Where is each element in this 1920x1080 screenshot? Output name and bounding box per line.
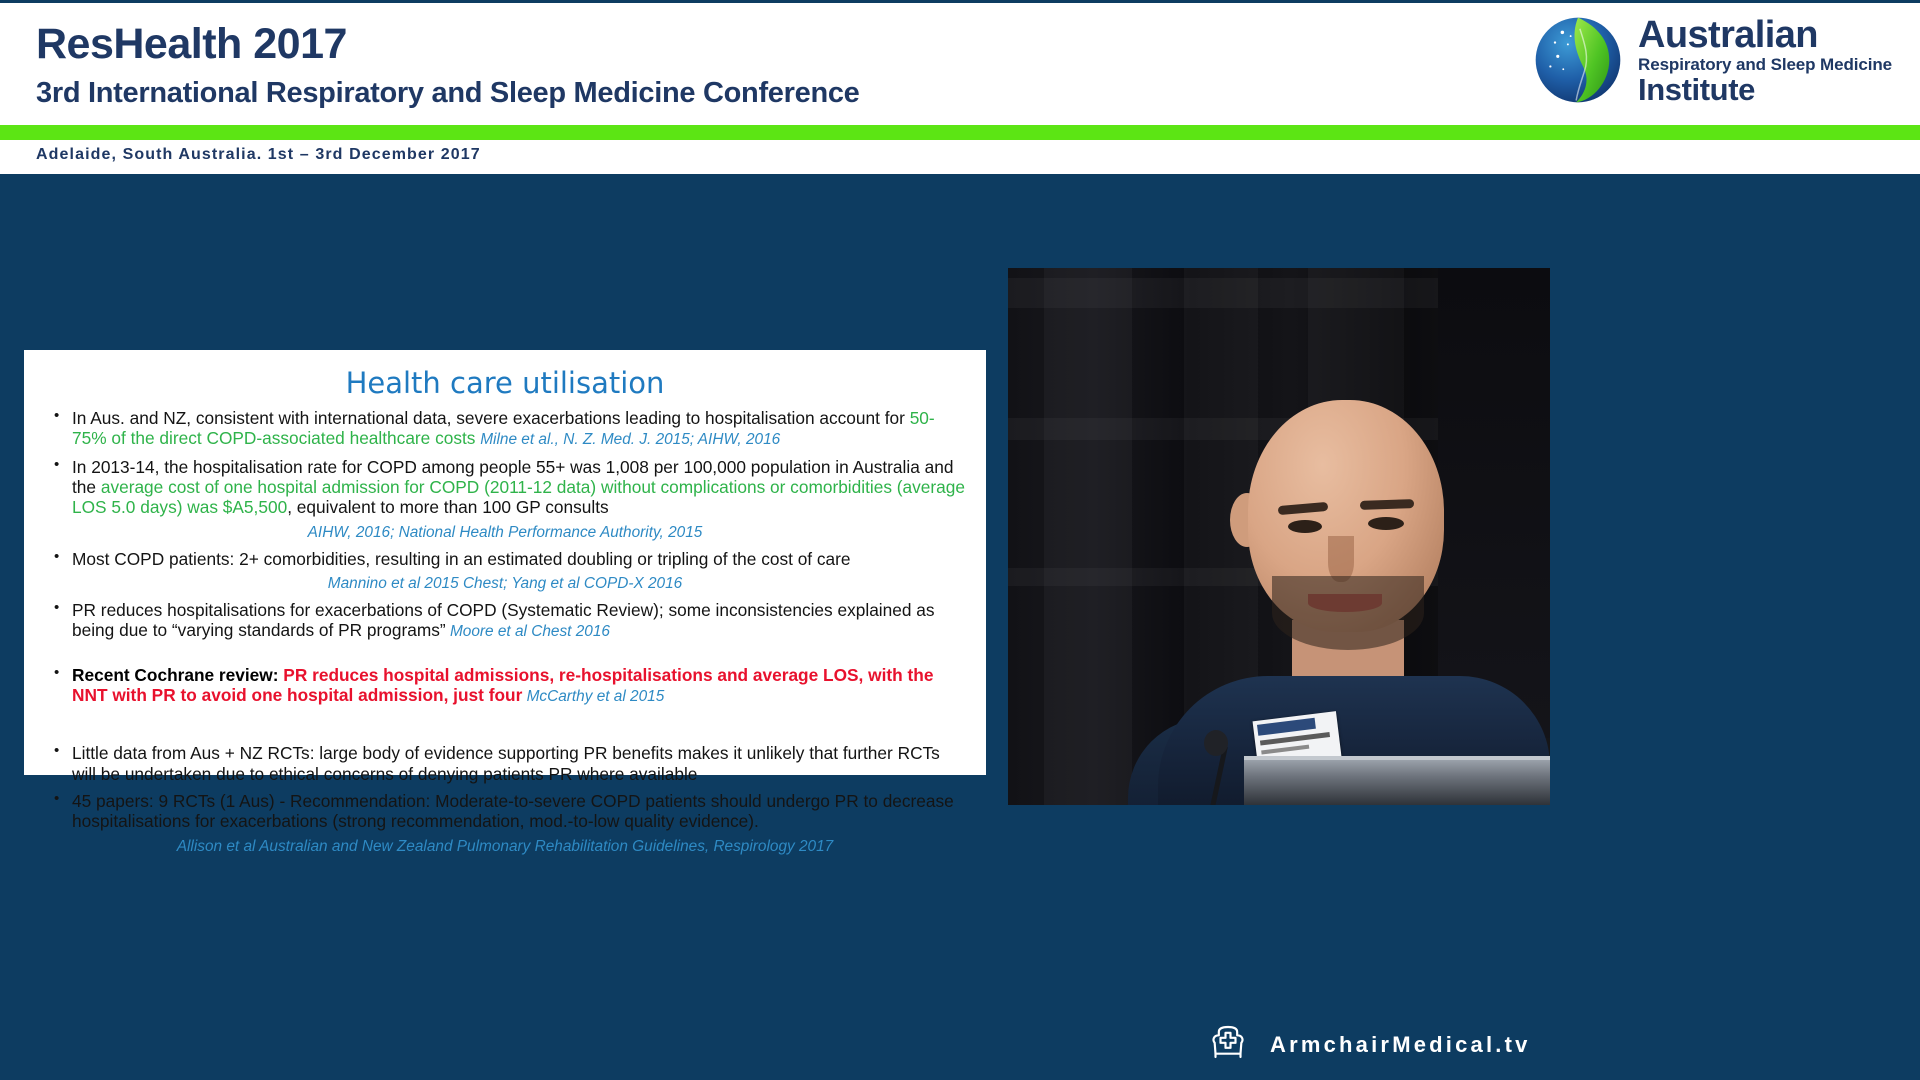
bullet-2-seg-normal-b: , equivalent to more than 100 GP consult… — [287, 497, 609, 517]
video-backdrop-shadow — [1438, 268, 1550, 738]
arsmi-circle-leaf-icon — [1532, 14, 1624, 106]
badge-role-line — [1261, 745, 1309, 755]
arsmi-logo-line2: Respiratory and Sleep Medicine — [1638, 56, 1892, 73]
arsmi-logo: Australian Respiratory and Sleep Medicin… — [1532, 14, 1892, 106]
slide-title: Health care utilisation — [42, 366, 968, 400]
slide-spacer-2 — [42, 713, 968, 743]
bullet-3-seg-normal: Most COPD patients: 2+ comorbidities, re… — [72, 549, 851, 569]
conference-subtitle: 3rd International Respiratory and Sleep … — [36, 78, 860, 108]
slide-bullet-1: In Aus. and NZ, consistent with internat… — [42, 408, 968, 450]
armchair-medical-brand: ArmchairMedical.tv — [1208, 1022, 1531, 1067]
speaker-eyebrow-right — [1360, 499, 1414, 510]
conference-header: ResHealth 2017 3rd International Respira… — [0, 0, 1920, 125]
speaker-beard — [1272, 576, 1424, 650]
slide-bullet-5: Recent Cochrane review: PR reduces hospi… — [42, 665, 968, 707]
arsmi-logo-line3: Institute — [1638, 74, 1892, 105]
bullet-4-citation: Moore et al Chest 2016 — [446, 623, 610, 640]
microphone-head — [1204, 730, 1228, 756]
speaker-eye-right — [1368, 517, 1404, 530]
armchair-medical-wordmark: ArmchairMedical.tv — [1270, 1032, 1531, 1058]
slide-spacer-1 — [42, 649, 968, 665]
header-top-rule — [0, 0, 1920, 3]
badge-header-bar — [1257, 718, 1316, 736]
slide-bullet-2: In 2013-14, the hospitalisation rate for… — [42, 457, 968, 518]
slide-bullet-4: PR reduces hospitalisations for exacerba… — [42, 600, 968, 642]
arsmi-logo-text: Australian Respiratory and Sleep Medicin… — [1638, 16, 1892, 105]
bullet-1-seg-normal: In Aus. and NZ, consistent with internat… — [72, 408, 910, 428]
bullet-7-citation: Allison et al Australian and New Zealand… — [42, 839, 968, 856]
armchair-medical-cross-icon — [1208, 1022, 1248, 1067]
speaker-eye-left — [1288, 520, 1322, 533]
bullet-5-seg-bold: Recent Cochrane review: — [72, 665, 283, 685]
bullet-3-citation: Mannino et al 2015 Chest; Yang et al COP… — [42, 576, 968, 593]
presentation-screen: ResHealth 2017 3rd International Respira… — [0, 0, 1920, 1080]
bullet-1-citation: Milne et al., N. Z. Med. J. 2015; AIHW, … — [480, 431, 780, 448]
slide-bullet-7: 45 papers: 9 RCTs (1 Aus) - Recommendati… — [42, 791, 968, 832]
venue-date-line: Adelaide, South Australia. 1st – 3rd Dec… — [36, 146, 481, 164]
arsmi-logo-line1: Australian — [1638, 16, 1892, 54]
video-backdrop-column — [1044, 268, 1132, 805]
presentation-slide: Health care utilisation In Aus. and NZ, … — [24, 350, 986, 775]
bullet-7-seg-normal: 45 papers: 9 RCTs (1 Aus) - Recommendati… — [72, 791, 954, 831]
bullet-2-citation: AIHW, 2016; National Health Performance … — [42, 525, 968, 542]
header-green-divider — [0, 125, 1920, 140]
slide-bullet-list: In Aus. and NZ, consistent with internat… — [42, 408, 968, 856]
bullet-5-citation: McCarthy et al 2015 — [522, 688, 664, 705]
bullet-6-seg-normal: Little data from Aus + NZ RCTs: large bo… — [72, 743, 940, 783]
speaker-mouth — [1308, 594, 1382, 612]
slide-bullet-6: Little data from Aus + NZ RCTs: large bo… — [42, 743, 968, 784]
speaker-video-panel[interactable] — [1008, 268, 1550, 805]
lectern-laptop — [1244, 760, 1550, 805]
slide-bullet-3: Most COPD patients: 2+ comorbidities, re… — [42, 549, 968, 569]
conference-title: ResHealth 2017 — [36, 22, 347, 67]
